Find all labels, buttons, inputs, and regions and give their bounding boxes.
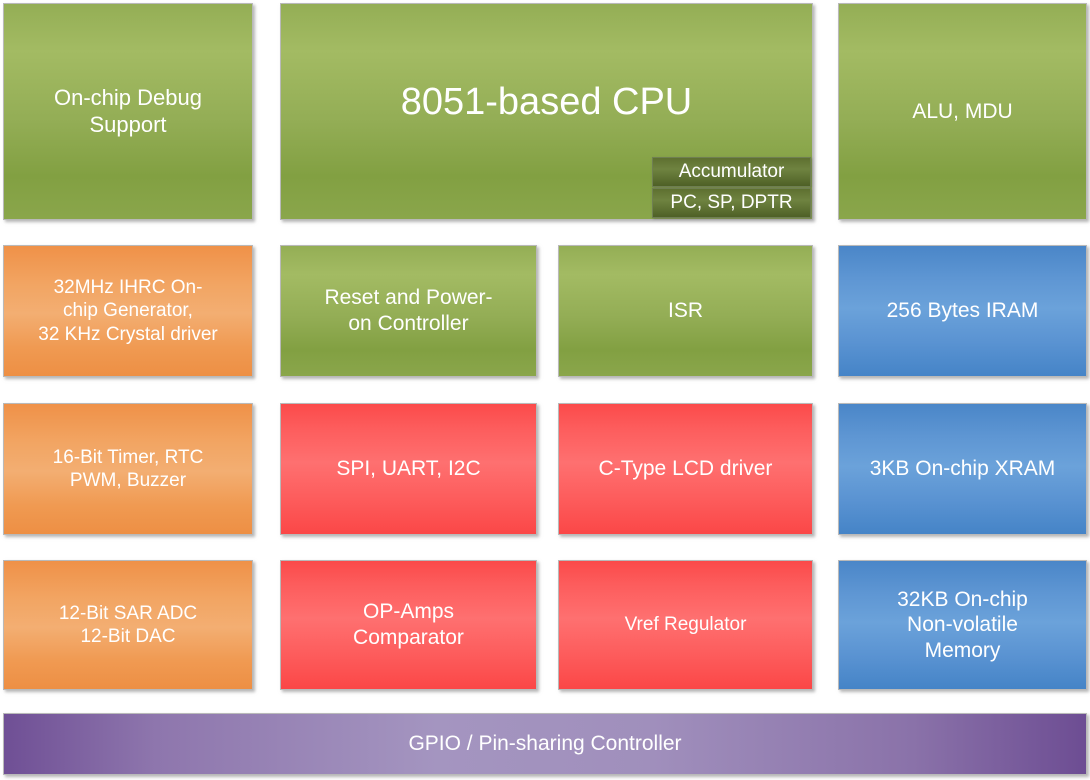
block-timer-rtc-pwm-buzzer: 16-Bit Timer, RTC PWM, Buzzer [3,403,253,535]
block-sar-adc-dac: 12-Bit SAR ADC 12-Bit DAC [3,560,253,690]
cpu-title-label: 8051-based CPU [401,79,693,125]
block-gpio-pin-sharing-controller: GPIO / Pin-sharing Controller [3,713,1087,775]
block-isr: ISR [558,245,813,377]
block-alu-mdu: ALU, MDU [838,3,1087,220]
block-pc-sp-dptr-registers: PC, SP, DPTR [652,188,811,218]
block-op-amps-comparator: OP-Amps Comparator [280,560,537,690]
block-c-type-lcd-driver: C-Type LCD driver [558,403,813,535]
block-reset-power-on-controller: Reset and Power- on Controller [280,245,537,377]
block-ihrc-oscillator: 32MHz IHRC On- chip Generator, 32 KHz Cr… [3,245,253,377]
block-spi-uart-i2c: SPI, UART, I2C [280,403,537,535]
block-vref-regulator: Vref Regulator [558,560,813,690]
block-diagram-canvas: On-chip Debug Support 8051-based CPU Acc… [0,0,1090,780]
block-256-bytes-iram: 256 Bytes IRAM [838,245,1087,377]
block-on-chip-debug-support: On-chip Debug Support [3,3,253,220]
block-32kb-non-volatile-memory: 32KB On-chip Non-volatile Memory [838,560,1087,690]
block-3kb-on-chip-xram: 3KB On-chip XRAM [838,403,1087,535]
block-accumulator-register: Accumulator [652,157,811,187]
